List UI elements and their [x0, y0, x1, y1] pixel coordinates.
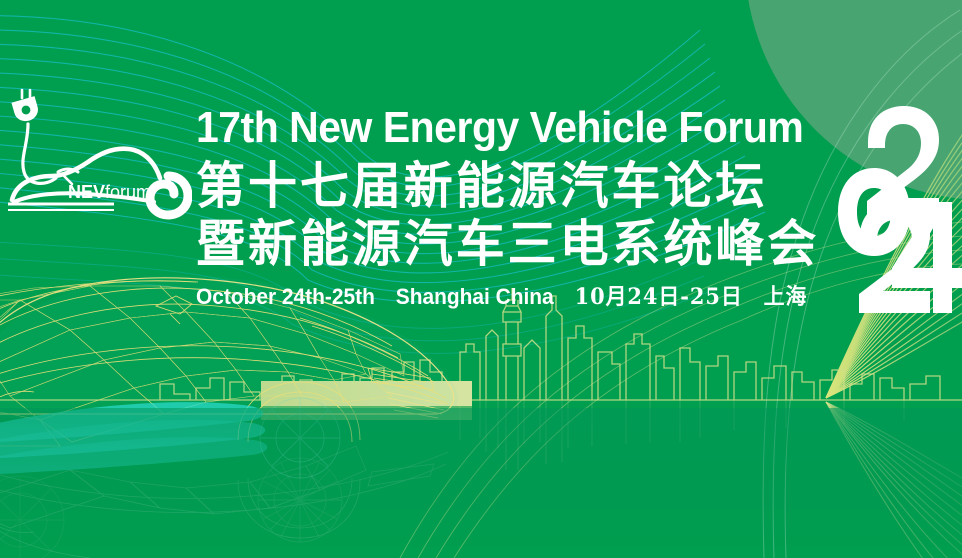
title-english: 17th New Energy Vehicle Forum	[196, 103, 791, 153]
title-block: 17th New Energy Vehicle Forum 第十七届新能源汽车论…	[196, 103, 836, 310]
date-chinese: 10月24日-25日	[575, 284, 743, 310]
nev-forum-wordmark: NEVforum	[68, 183, 151, 201]
location-english: Shanghai China	[396, 284, 554, 310]
wordmark-light: forum	[105, 182, 151, 202]
event-poster: NEVforum 17th New Energy Vehicle Forum 第…	[0, 0, 962, 558]
charging-plug-icon	[22, 90, 30, 98]
date-location-line: October 24th-25th Shanghai China 10月24日-…	[196, 284, 804, 310]
date-english: October 24th-25th	[196, 284, 375, 310]
location-chinese: 上海	[764, 284, 808, 310]
title-chinese-line-2: 暨新能源汽车三电系统峰会	[196, 216, 823, 272]
year-mark-2024	[838, 102, 962, 318]
wordmark-bold: NEV	[68, 182, 105, 202]
title-chinese-line-1: 第十七届新能源汽车论坛	[196, 158, 823, 214]
wheel-swirl	[150, 176, 188, 215]
year-digit-2-bottom	[859, 202, 930, 313]
